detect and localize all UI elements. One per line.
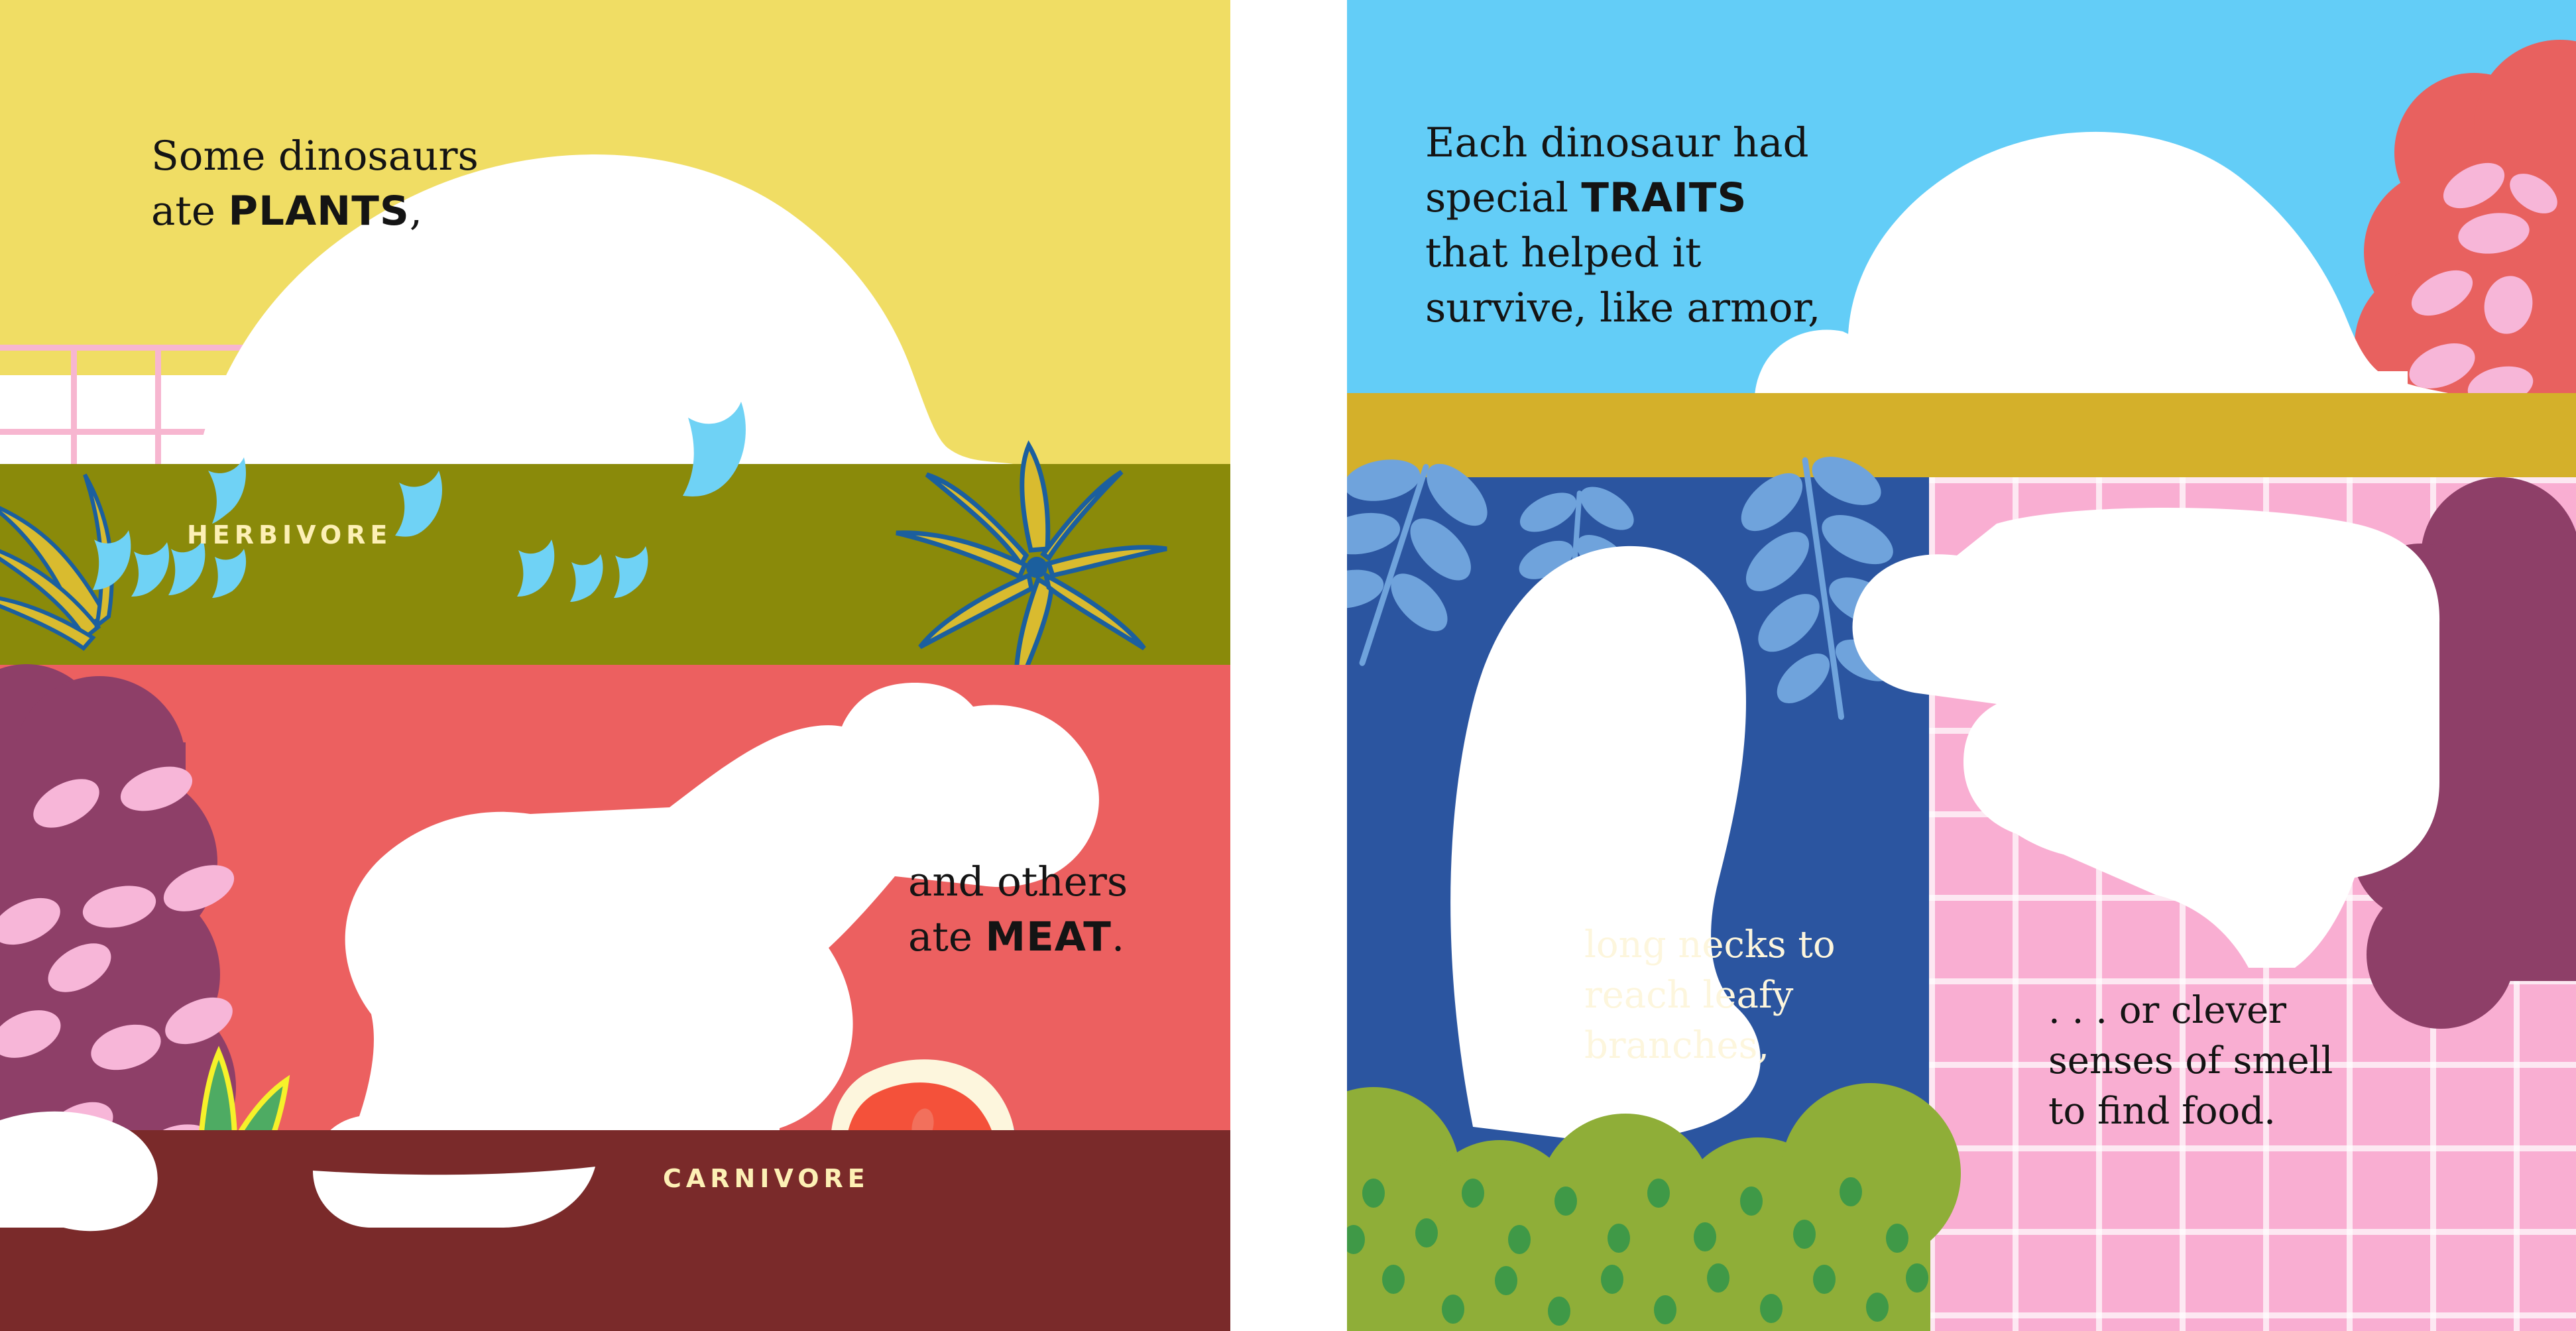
caption-plants-line1: Some dinosaurs	[151, 129, 562, 184]
caption-meat-line2: ate MEAT.	[908, 910, 1213, 965]
caption-smell-line3: to find food.	[2048, 1086, 2380, 1137]
caption-traits-line3: that helped it	[1425, 226, 1849, 281]
caption-meat-pre: ate	[908, 913, 985, 960]
caption-necks: long necks to reach leafy branches,	[1584, 920, 1876, 1071]
left-page: HERBIVORE	[0, 0, 1230, 1331]
caption-traits-line2: special TRAITS	[1425, 171, 1849, 226]
caption-meat-strong: MEAT	[985, 913, 1111, 960]
right-page: Each dinosaur had special TRAITS that he…	[1347, 0, 2576, 1331]
caption-meat-line1: and others	[908, 855, 1213, 910]
caption-plants-pre: ate	[151, 188, 228, 235]
caption-meat: and others ate MEAT.	[908, 855, 1213, 965]
caption-smell-line1: . . . or clever	[2048, 986, 2380, 1036]
caption-traits-line4: survive, like armor,	[1425, 281, 1849, 336]
book-spread: HERBIVORE	[0, 0, 2576, 1331]
caption-necks-line3: branches,	[1584, 1021, 1876, 1071]
caption-plants-line2: ate PLANTS,	[151, 184, 562, 239]
label-carnivore: CARNIVORE	[663, 1164, 870, 1193]
caption-necks-line1: long necks to	[1584, 920, 1876, 970]
caption-traits-pre: special	[1425, 174, 1581, 221]
caption-smell: . . . or clever senses of smell to find …	[2048, 986, 2380, 1137]
caption-smell-line2: senses of smell	[2048, 1036, 2380, 1086]
caption-necks-line2: reach leafy	[1584, 970, 1876, 1021]
caption-plants: Some dinosaurs ate PLANTS,	[151, 129, 562, 239]
caption-plants-post: ,	[410, 188, 422, 235]
caption-traits-strong: TRAITS	[1581, 174, 1747, 221]
caption-traits: Each dinosaur had special TRAITS that he…	[1425, 116, 1849, 336]
caption-meat-post: .	[1112, 913, 1124, 960]
caption-plants-strong: PLANTS	[228, 188, 409, 235]
caption-traits-line1: Each dinosaur had	[1425, 116, 1849, 171]
